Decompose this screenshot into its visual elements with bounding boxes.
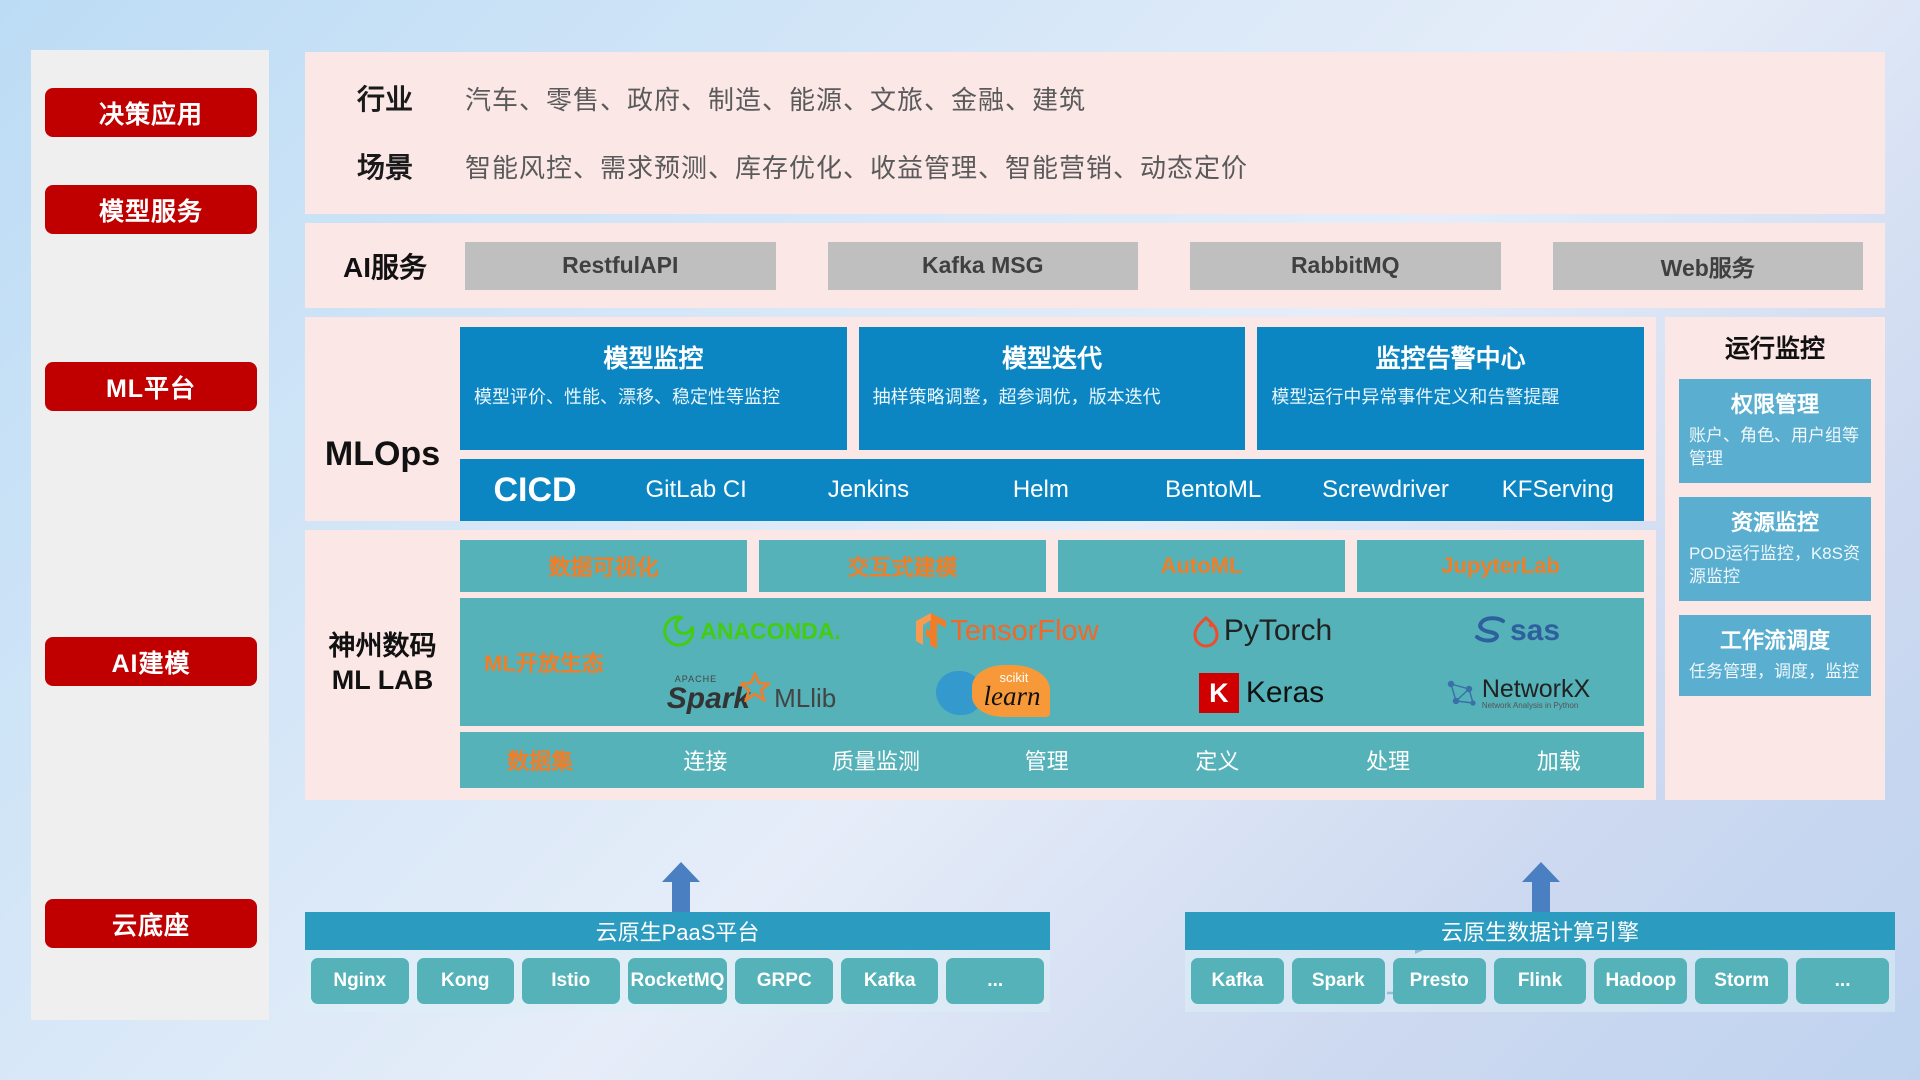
monitor-card-workflow[interactable]: 工作流调度 任务管理，调度，监控 bbox=[1679, 615, 1871, 696]
compute-title: 云原生数据计算引擎 bbox=[1185, 912, 1895, 950]
card-title: 监控告警中心 bbox=[1271, 339, 1630, 375]
card-desc: 模型评价、性能、漂移、稳定性等监控 bbox=[474, 385, 833, 410]
compute-chip-flink[interactable]: Flink bbox=[1494, 958, 1587, 1004]
networkx-logo: NetworkX Network Analysis in Python bbox=[1389, 662, 1644, 724]
pytorch-wordmark: PyTorch bbox=[1224, 614, 1332, 648]
ml-lab-line2: ML LAB bbox=[332, 664, 434, 698]
learn-text: learn bbox=[984, 681, 1041, 712]
card-title: 资源监控 bbox=[1689, 505, 1861, 537]
keras-wordmark: Keras bbox=[1246, 676, 1324, 710]
scenario-label: 场景 bbox=[305, 146, 465, 186]
compute-chip-kafka[interactable]: Kafka bbox=[1191, 958, 1284, 1004]
compute-engine-block: 云原生数据计算引擎 Kafka Spark Presto Flink Hadoo… bbox=[1185, 912, 1895, 1012]
tool-chip-interactive-modeling[interactable]: 交互式建模 bbox=[759, 540, 1046, 592]
spark-wordmark: Spark bbox=[667, 684, 750, 714]
service-chip-rabbitmq[interactable]: RabbitMQ bbox=[1190, 242, 1501, 290]
monitor-card-permission[interactable]: 权限管理 账户、角色、用户组等管理 bbox=[1679, 379, 1871, 483]
ai-modeling-band: 神州数码 ML LAB 数据可视化 交互式建模 AutoML JupyterLa… bbox=[305, 530, 1656, 800]
rail-item-decision-app[interactable]: 决策应用 bbox=[45, 88, 257, 137]
anaconda-mark-icon bbox=[662, 614, 696, 648]
scenario-value: 智能风控、需求预测、库存优化、收益管理、智能营销、动态定价 bbox=[465, 148, 1248, 185]
mlops-card-list: 模型监控 模型评价、性能、漂移、稳定性等监控 模型迭代 抽样策略调整，超参调优，… bbox=[460, 327, 1644, 450]
paas-chip-more[interactable]: ... bbox=[946, 958, 1044, 1004]
modeling-tool-list: 数据可视化 交互式建模 AutoML JupyterLab bbox=[460, 540, 1644, 592]
compute-chip-hadoop[interactable]: Hadoop bbox=[1594, 958, 1687, 1004]
ai-service-label: AI服务 bbox=[305, 246, 465, 286]
tool-chip-data-visualization[interactable]: 数据可视化 bbox=[460, 540, 747, 592]
card-title: 模型监控 bbox=[474, 339, 833, 375]
tool-chip-jupyterlab[interactable]: JupyterLab bbox=[1357, 540, 1644, 592]
dataset-item-define[interactable]: 定义 bbox=[1132, 744, 1303, 776]
infrastructure-section: 云原生PaaS平台 Nginx Kong Istio RocketMQ GRPC… bbox=[305, 880, 1895, 1055]
paas-chip-grpc[interactable]: GRPC bbox=[735, 958, 833, 1004]
ml-lab-label: 神州数码 ML LAB bbox=[305, 540, 460, 788]
cicd-title: CICD bbox=[460, 471, 610, 510]
dataset-item-load[interactable]: 加载 bbox=[1473, 744, 1644, 776]
ai-modeling-content: 数据可视化 交互式建模 AutoML JupyterLab ML开放生态 bbox=[460, 540, 1656, 788]
paas-platform-block: 云原生PaaS平台 Nginx Kong Istio RocketMQ GRPC… bbox=[305, 912, 1050, 1012]
service-chip-restfulapi[interactable]: RestfulAPI bbox=[465, 242, 776, 290]
anaconda-logo: ANACONDA. bbox=[624, 600, 879, 662]
cicd-item-list: GitLab CI Jenkins Helm BentoML Screwdriv… bbox=[610, 476, 1644, 504]
card-title: 权限管理 bbox=[1689, 387, 1861, 419]
networkx-tagline: Network Analysis in Python bbox=[1482, 702, 1590, 710]
monitor-card-resource[interactable]: 资源监控 POD运行监控，K8S资源监控 bbox=[1679, 497, 1871, 601]
dataset-item-process[interactable]: 处理 bbox=[1303, 744, 1474, 776]
rail-label: 云底座 bbox=[112, 906, 190, 942]
service-chip-web[interactable]: Web服务 bbox=[1553, 242, 1864, 290]
cicd-item-bentoml[interactable]: BentoML bbox=[1127, 476, 1299, 504]
card-desc: 任务管理，调度，监控 bbox=[1689, 661, 1861, 684]
paas-chip-nginx[interactable]: Nginx bbox=[311, 958, 409, 1004]
cicd-bar: CICD GitLab CI Jenkins Helm BentoML Scre… bbox=[460, 459, 1644, 521]
card-desc: 账户、角色、用户组等管理 bbox=[1689, 425, 1861, 471]
anaconda-wordmark: ANACONDA. bbox=[700, 618, 841, 645]
ml-ecosystem-label: ML开放生态 bbox=[464, 646, 624, 678]
card-desc: 模型运行中异常事件定义和告警提醒 bbox=[1271, 385, 1630, 410]
scenario-row: 场景 智能风控、需求预测、库存优化、收益管理、智能营销、动态定价 bbox=[305, 132, 1885, 200]
mllib-wordmark: MLlib bbox=[774, 683, 836, 714]
dataset-item-quality[interactable]: 质量监测 bbox=[791, 744, 962, 776]
paas-chip-rocketmq[interactable]: RocketMQ bbox=[628, 958, 728, 1004]
compute-chip-spark[interactable]: Spark bbox=[1292, 958, 1385, 1004]
rail-label: 决策应用 bbox=[99, 95, 203, 131]
monitor-rail: 运行监控 权限管理 账户、角色、用户组等管理 资源监控 POD运行监控，K8S资… bbox=[1665, 317, 1885, 800]
ml-ecosystem-row: ML开放生态 ANACONDA. bbox=[460, 598, 1644, 726]
paas-chip-kafka[interactable]: Kafka bbox=[841, 958, 939, 1004]
rail-label: ML平台 bbox=[106, 369, 196, 405]
rail-item-ai-modeling[interactable]: AI建模 bbox=[45, 637, 257, 686]
scikit-learn-logo: scikit learn bbox=[879, 662, 1134, 724]
paas-chip-list: Nginx Kong Istio RocketMQ GRPC Kafka ... bbox=[305, 950, 1050, 1012]
mlops-label: MLOps bbox=[305, 327, 460, 521]
networkx-graph-icon bbox=[1443, 676, 1479, 710]
tensorflow-wordmark: TensorFlow bbox=[950, 615, 1098, 648]
sas-mark-icon bbox=[1473, 614, 1509, 648]
industry-value: 汽车、零售、政府、制造、能源、文旅、金融、建筑 bbox=[465, 80, 1086, 117]
application-band: 行业 汽车、零售、政府、制造、能源、文旅、金融、建筑 场景 智能风控、需求预测、… bbox=[305, 52, 1885, 214]
cicd-item-kfserving[interactable]: KFServing bbox=[1472, 476, 1644, 504]
rail-item-model-service[interactable]: 模型服务 bbox=[45, 185, 257, 234]
service-chip-kafka-msg[interactable]: Kafka MSG bbox=[828, 242, 1139, 290]
ai-service-band: AI服务 RestfulAPI Kafka MSG RabbitMQ Web服务 bbox=[305, 223, 1885, 308]
tool-chip-automl[interactable]: AutoML bbox=[1058, 540, 1345, 592]
tensorflow-mark-icon bbox=[914, 611, 948, 651]
card-desc: 抽样策略调整，超参调优，版本迭代 bbox=[873, 385, 1232, 410]
card-desc: POD运行监控，K8S资源监控 bbox=[1689, 543, 1861, 589]
cicd-item-jenkins[interactable]: Jenkins bbox=[782, 476, 954, 504]
ml-lab-line1: 神州数码 bbox=[329, 630, 437, 664]
networkx-wordmark: NetworkX bbox=[1482, 676, 1590, 702]
ai-service-chip-list: RestfulAPI Kafka MSG RabbitMQ Web服务 bbox=[465, 242, 1885, 290]
main-column: 行业 汽车、零售、政府、制造、能源、文旅、金融、建筑 场景 智能风控、需求预测、… bbox=[305, 52, 1885, 800]
card-title: 工作流调度 bbox=[1689, 623, 1861, 655]
rail-item-ml-platform[interactable]: ML平台 bbox=[45, 362, 257, 411]
dataset-label: 数据集 bbox=[460, 744, 620, 776]
spark-star-icon bbox=[740, 672, 770, 702]
sas-wordmark: sas bbox=[1510, 614, 1560, 648]
left-rail-panel: 决策应用 模型服务 ML平台 AI建模 云底座 bbox=[31, 50, 269, 1020]
middle-section: MLOps 模型监控 模型评价、性能、漂移、稳定性等监控 模型迭代 抽样策略调整… bbox=[305, 317, 1885, 800]
compute-chip-storm[interactable]: Storm bbox=[1695, 958, 1788, 1004]
cicd-item-gitlab-ci[interactable]: GitLab CI bbox=[610, 476, 782, 504]
sas-logo: sas bbox=[1389, 600, 1644, 662]
industry-row: 行业 汽车、零售、政府、制造、能源、文旅、金融、建筑 bbox=[305, 64, 1885, 132]
up-arrow-compute-icon bbox=[1520, 862, 1562, 914]
dataset-item-manage[interactable]: 管理 bbox=[961, 744, 1132, 776]
platform-stack: MLOps 模型监控 模型评价、性能、漂移、稳定性等监控 模型迭代 抽样策略调整… bbox=[305, 317, 1656, 800]
ml-ecosystem-logo-grid: ANACONDA. TensorFlow bbox=[624, 600, 1644, 724]
compute-chip-list: Kafka Spark Presto Flink Hadoop Storm ..… bbox=[1185, 950, 1895, 1012]
pytorch-flame-icon bbox=[1191, 614, 1221, 648]
mlops-content: 模型监控 模型评价、性能、漂移、稳定性等监控 模型迭代 抽样策略调整，超参调优，… bbox=[460, 327, 1656, 521]
spark-mllib-logo: APACHE Spark MLlib bbox=[624, 662, 879, 724]
diagram-root: 决策应用 模型服务 ML平台 AI建模 云底座 行业 汽车、零售、政府、制造、能… bbox=[0, 0, 1920, 1080]
keras-logo: K Keras bbox=[1134, 662, 1389, 724]
mlops-band: MLOps 模型监控 模型评价、性能、漂移、稳定性等监控 模型迭代 抽样策略调整… bbox=[305, 317, 1656, 521]
compute-chip-more[interactable]: ... bbox=[1796, 958, 1889, 1004]
monitor-rail-title: 运行监控 bbox=[1679, 329, 1871, 365]
rail-label: 模型服务 bbox=[99, 192, 203, 228]
cicd-item-screwdriver[interactable]: Screwdriver bbox=[1299, 476, 1471, 504]
rail-label: AI建模 bbox=[111, 644, 190, 680]
cicd-item-helm[interactable]: Helm bbox=[955, 476, 1127, 504]
up-arrow-paas-icon bbox=[660, 862, 702, 914]
tensorflow-logo: TensorFlow bbox=[879, 600, 1134, 662]
industry-label: 行业 bbox=[305, 78, 465, 118]
card-title: 模型迭代 bbox=[873, 339, 1232, 375]
pytorch-logo: PyTorch bbox=[1134, 600, 1389, 662]
dataset-row: 数据集 连接 质量监测 管理 定义 处理 加载 bbox=[460, 732, 1644, 788]
keras-k-letter: K bbox=[1209, 678, 1229, 709]
keras-mark-icon: K bbox=[1199, 673, 1239, 713]
compute-chip-presto[interactable]: Presto bbox=[1393, 958, 1486, 1004]
paas-title: 云原生PaaS平台 bbox=[305, 912, 1050, 950]
rail-item-cloud-base[interactable]: 云底座 bbox=[45, 899, 257, 948]
paas-chip-kong[interactable]: Kong bbox=[417, 958, 515, 1004]
mlops-card-model-iteration[interactable]: 模型迭代 抽样策略调整，超参调优，版本迭代 bbox=[859, 327, 1246, 450]
paas-chip-istio[interactable]: Istio bbox=[522, 958, 620, 1004]
mlops-card-alert-center[interactable]: 监控告警中心 模型运行中异常事件定义和告警提醒 bbox=[1257, 327, 1644, 450]
mlops-card-model-monitoring[interactable]: 模型监控 模型评价、性能、漂移、稳定性等监控 bbox=[460, 327, 847, 450]
dataset-item-list: 连接 质量监测 管理 定义 处理 加载 bbox=[620, 744, 1644, 776]
dataset-item-connect[interactable]: 连接 bbox=[620, 744, 791, 776]
